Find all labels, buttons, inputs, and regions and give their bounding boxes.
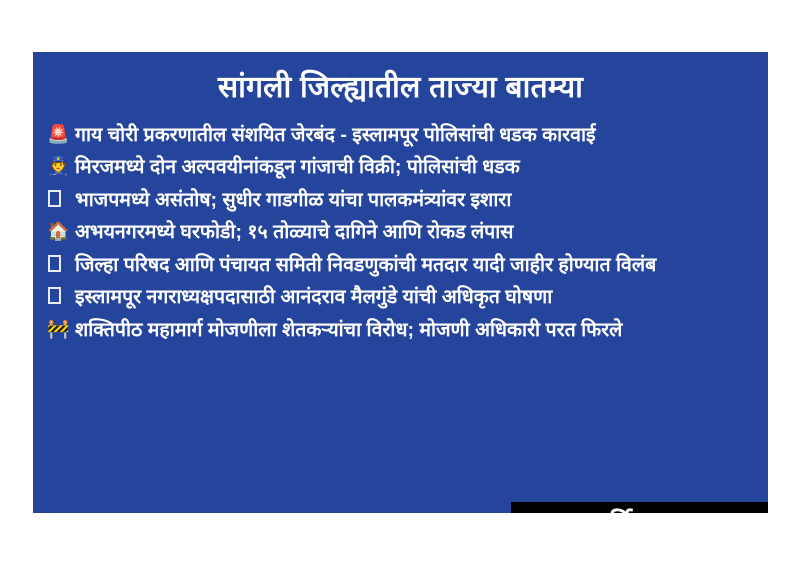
list-item: 👮 मिरजमध्ये दोन अल्पवयीनांकडून गांजाची व… <box>47 152 746 184</box>
list-item: इस्लामपूर नगराध्यक्षपदासाठी आनंदराव मैलग… <box>47 282 746 314</box>
house-icon: 🏠 <box>47 217 77 246</box>
masthead-logo: आयर्विन टाइम्स <box>511 502 768 513</box>
news-headline-text: शक्तिपीठ महामार्ग मोजणीला शेतकऱ्यांचा वि… <box>75 315 746 347</box>
news-card-page: सांगली जिल्ह्यातील ताज्या बातम्या 🚨 गाय … <box>0 0 800 567</box>
construction-barrier-icon: 🚧 <box>47 315 77 344</box>
list-item: जिल्हा परिषद आणि पंचायत समिती निवडणुकांच… <box>47 250 746 282</box>
page-title: सांगली जिल्ह्यातील ताज्या बातम्या <box>33 52 768 106</box>
news-headline-text: जिल्हा परिषद आणि पंचायत समिती निवडणुकांच… <box>75 250 746 282</box>
masthead-label: आयर्विन टाइम्स <box>565 511 718 513</box>
news-panel: सांगली जिल्ह्यातील ताज्या बातम्या 🚨 गाय … <box>33 52 768 513</box>
news-headline-text: भाजपमध्ये असंतोष; सुधीर गाडगीळ यांचा पाल… <box>75 185 746 217</box>
news-headline-list: 🚨 गाय चोरी प्रकरणातील संशयित जेरबंद - इस… <box>33 106 768 347</box>
list-item: 🚧 शक्तिपीठ महामार्ग मोजणीला शेतकऱ्यांचा … <box>47 315 746 347</box>
news-headline-text: इस्लामपूर नगराध्यक्षपदासाठी आनंदराव मैलग… <box>75 282 746 314</box>
rotating-light-icon: 🚨 <box>47 120 77 149</box>
news-headline-text: मिरजमध्ये दोन अल्पवयीनांकडून गांजाची विक… <box>75 152 746 184</box>
list-item: 🚨 गाय चोरी प्रकरणातील संशयित जेरबंद - इस… <box>47 120 746 152</box>
missing-glyph-box-icon <box>47 250 77 279</box>
list-item: 🏠 अभयनगरमध्ये घरफोडी; १५ तोळ्याचे दागिने… <box>47 217 746 249</box>
missing-glyph-box-icon <box>47 185 77 214</box>
missing-glyph-box-icon <box>47 282 77 311</box>
police-officer-icon: 👮 <box>47 152 77 181</box>
news-headline-text: अभयनगरमध्ये घरफोडी; १५ तोळ्याचे दागिने आ… <box>75 217 746 249</box>
list-item: भाजपमध्ये असंतोष; सुधीर गाडगीळ यांचा पाल… <box>47 185 746 217</box>
news-headline-text: गाय चोरी प्रकरणातील संशयित जेरबंद - इस्ल… <box>75 120 746 152</box>
